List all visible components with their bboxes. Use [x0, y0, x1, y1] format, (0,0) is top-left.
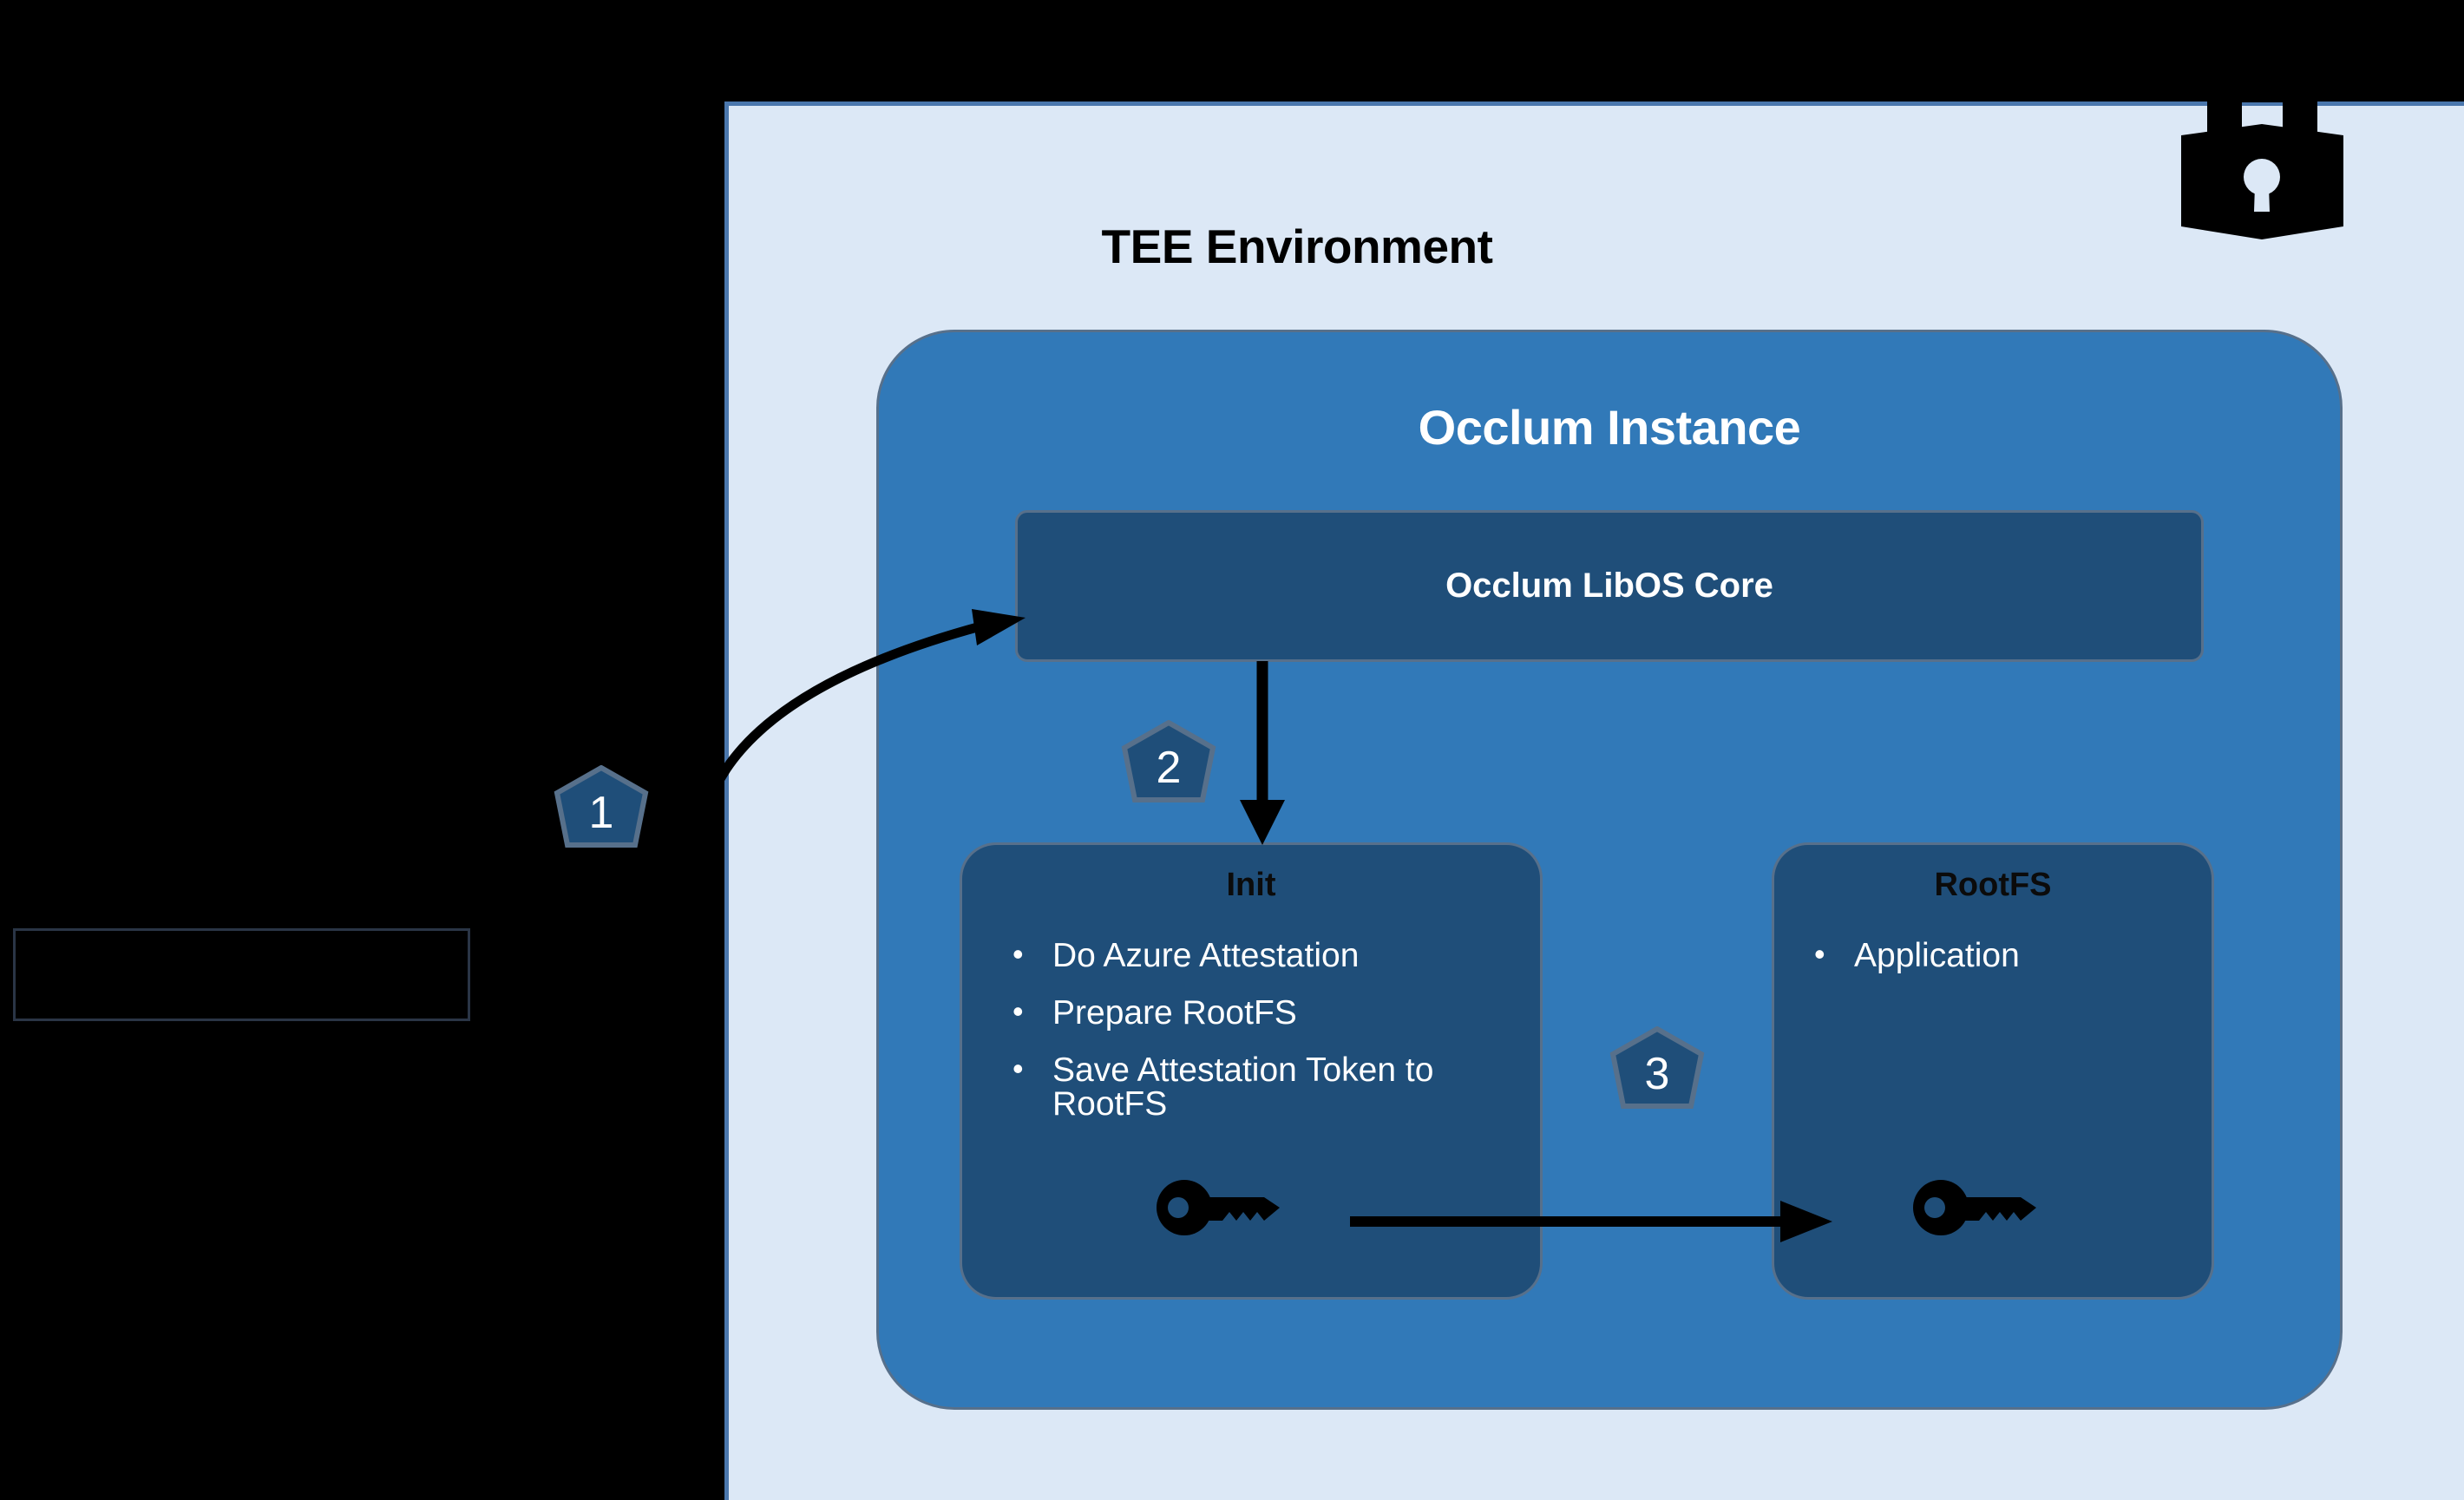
diagram-canvas: TEE Environment Occlum Instance Occlum L… — [0, 0, 2464, 1500]
init-bullet-list: Do Azure Attestation Prepare RootFS Save… — [1006, 939, 1504, 1144]
step-badge-3: 3 — [1606, 1026, 1708, 1122]
empty-outlined-rectangle — [13, 928, 470, 1021]
padlock-closed-icon — [2169, 69, 2356, 243]
list-item: Save Attestation Token to RootFS — [1006, 1053, 1504, 1121]
step-badge-1-number: 1 — [550, 765, 652, 861]
step-badge-2: 2 — [1117, 720, 1220, 816]
step-badge-3-number: 3 — [1606, 1026, 1708, 1122]
key-icon — [1913, 1178, 2041, 1237]
occlum-libos-core-box: Occlum LibOS Core — [1015, 510, 2204, 662]
list-item: Prepare RootFS — [1006, 996, 1504, 1030]
list-item: Application — [1807, 939, 2020, 973]
step-badge-1: 1 — [550, 765, 652, 861]
rootfs-bullet-list: Application — [1807, 939, 2020, 996]
list-item: Do Azure Attestation — [1006, 939, 1504, 973]
step-badge-2-number: 2 — [1117, 720, 1220, 816]
occlum-instance-title: Occlum Instance — [879, 399, 2340, 455]
occlum-libos-core-label: Occlum LibOS Core — [1445, 567, 1773, 606]
init-title: Init — [962, 867, 1540, 904]
key-icon — [1157, 1178, 1285, 1237]
rootfs-title: RootFS — [1774, 867, 2212, 904]
tee-environment-title: TEE Environment — [729, 219, 1865, 274]
